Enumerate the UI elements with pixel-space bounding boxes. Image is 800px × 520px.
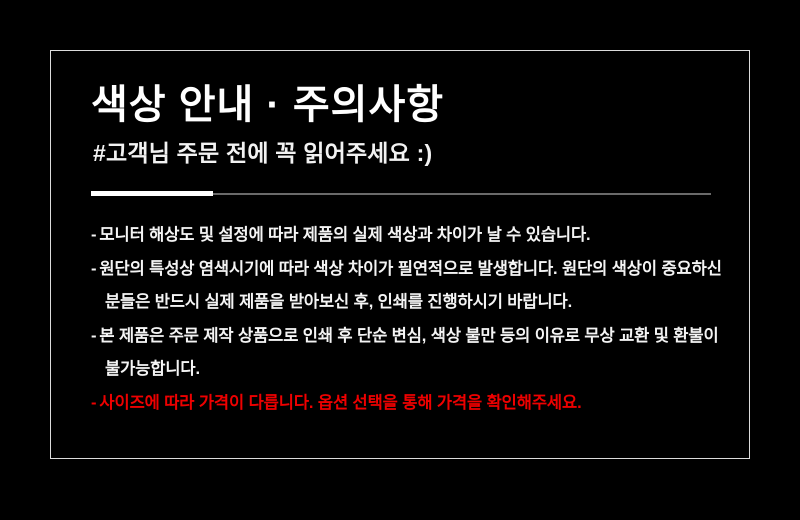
list-item: -원단의 특성상 염색시기에 따라 색상 차이가 필연적으로 발생합니다. 원단… (91, 253, 721, 287)
list-item-text: 불가능합니다. (105, 360, 200, 378)
bullet-dash-icon: - (91, 320, 96, 354)
list-item: -모니터 해상도 및 설정에 따라 제품의 실제 색상과 차이가 날 수 있습니… (91, 219, 721, 253)
bullet-dash-icon: - (91, 253, 96, 287)
list-item-text: 분들은 반드시 실제 제품을 받아보신 후, 인쇄를 진행하시기 바랍니다. (105, 293, 572, 311)
page-title: 색상 안내 · 주의사항 (91, 83, 721, 128)
bullet-dash-icon: - (91, 387, 96, 421)
page-subtitle: #고객님 주문 전에 꼭 읽어주세요 :) (93, 140, 721, 168)
divider-accent-stub (91, 191, 213, 196)
notice-content: 색상 안내 · 주의사항 #고객님 주문 전에 꼭 읽어주세요 :) -모니터 … (91, 83, 721, 420)
list-item-alert: -사이즈에 따라 가격이 다릅니다. 옵션 선택을 통해 가격을 확인해주세요. (91, 387, 721, 421)
notice-list: -모니터 해상도 및 설정에 따라 제품의 실제 색상과 차이가 날 수 있습니… (91, 219, 721, 420)
bullet-dash-icon: - (91, 219, 96, 253)
notice-frame-border: 색상 안내 · 주의사항 #고객님 주문 전에 꼭 읽어주세요 :) -모니터 … (50, 50, 750, 459)
notice-banner: 색상 안내 · 주의사항 #고객님 주문 전에 꼭 읽어주세요 :) -모니터 … (0, 0, 800, 520)
list-item-alert-text: 사이즈에 따라 가격이 다릅니다. 옵션 선택을 통해 가격을 확인해주세요. (99, 394, 581, 412)
divider-thin-rule (213, 193, 711, 195)
list-item-text: 모니터 해상도 및 설정에 따라 제품의 실제 색상과 차이가 날 수 있습니다… (99, 226, 590, 244)
list-item-text: 원단의 특성상 염색시기에 따라 색상 차이가 필연적으로 발생합니다. 원단의… (99, 260, 721, 278)
list-item: -본 제품은 주문 제작 상품으로 인쇄 후 단순 변심, 색상 불만 등의 이… (91, 320, 721, 354)
list-item-text: 본 제품은 주문 제작 상품으로 인쇄 후 단순 변심, 색상 불만 등의 이유… (99, 327, 718, 345)
list-item-continuation: 불가능합니다. (91, 353, 721, 387)
list-item-continuation: 분들은 반드시 실제 제품을 받아보신 후, 인쇄를 진행하시기 바랍니다. (91, 286, 721, 320)
title-divider (91, 191, 711, 197)
